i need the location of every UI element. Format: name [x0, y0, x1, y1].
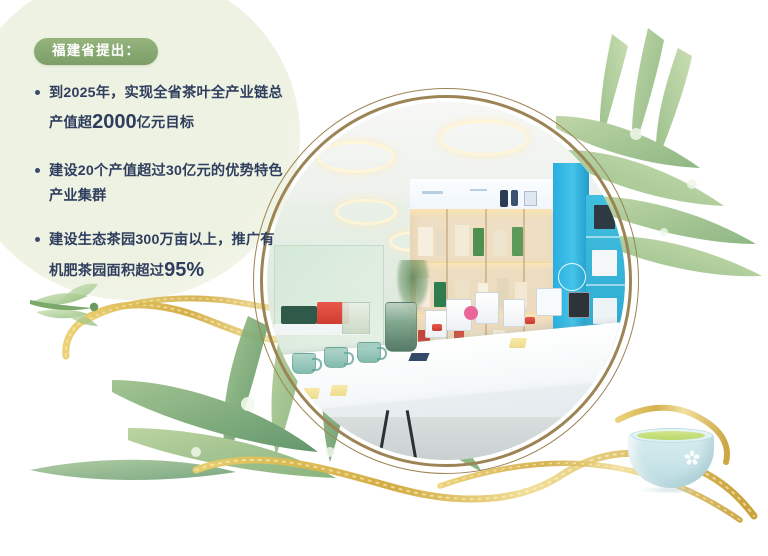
- product-box: [512, 227, 523, 256]
- poster-canvas: 福建省提出： 到2025年，实现全省茶叶全产业链总产值超2000亿元目标 建设2…: [0, 0, 768, 556]
- bullet-dot: [35, 168, 40, 173]
- plain-text: 建设20个产值超过30亿元的优势特色产业集群: [49, 163, 283, 203]
- tea-canister: [342, 302, 370, 334]
- tea-bowl: [628, 424, 714, 492]
- bullet-item-1: 到2025年，实现全省茶叶全产业链总产值超2000亿元目标: [34, 81, 284, 140]
- bullet-item-2: 建设20个产值超过30亿元的优势特色产业集群: [34, 159, 284, 208]
- plain-text: 亿元目标: [137, 115, 195, 131]
- product-box: [592, 250, 617, 276]
- dark-display-box: [281, 306, 317, 324]
- product-box: [455, 225, 469, 256]
- emphasis-number: 2000: [92, 111, 137, 133]
- tea-liquid: [637, 431, 705, 440]
- green-glass-mug: [324, 347, 348, 368]
- plain-text: 建设生态茶园300万亩以上，推广有机肥茶园面积超过: [49, 232, 275, 278]
- red-price-tag: [432, 324, 442, 331]
- bullet-item-3: 建设生态茶园300万亩以上，推广有机肥茶园面积超过95%: [34, 228, 284, 287]
- green-glass-mug: [357, 342, 381, 363]
- product-display: [475, 292, 499, 324]
- brand-logo-medallion: [558, 263, 586, 291]
- bullet-text: 建设20个产值超过30亿元的优势特色产业集群: [49, 163, 283, 203]
- product-box: [593, 298, 617, 324]
- product-box: [436, 230, 447, 256]
- tablet-stand: [536, 288, 562, 316]
- pink-circle-sign: [464, 306, 478, 320]
- badge-title: 福建省提出：: [34, 38, 158, 65]
- product-box: [434, 282, 446, 308]
- tablet-stand: [568, 292, 590, 318]
- emphasis-number: 95%: [164, 259, 204, 281]
- tea-shop-scene: [267, 102, 625, 460]
- yellow-card: [509, 338, 527, 348]
- yellow-card: [302, 388, 320, 399]
- circular-photo-frame: [253, 88, 639, 474]
- red-price-tag: [525, 317, 535, 324]
- bullet-list: 到2025年，实现全省茶叶全产业链总产值超2000亿元目标 建设20个产值超过3…: [34, 81, 284, 287]
- floor: [267, 417, 625, 460]
- pendant-light-2: [439, 120, 529, 156]
- circular-photo: [267, 102, 625, 460]
- product-box: [418, 227, 433, 256]
- bullet-text: 到2025年，实现全省茶叶全产业链总产值超2000亿元目标: [49, 85, 283, 131]
- bullet-dot: [35, 90, 40, 95]
- green-glass-mug: [292, 353, 316, 374]
- flower-icon: [684, 450, 700, 466]
- product-box: [494, 230, 506, 256]
- bullet-dot: [35, 237, 40, 242]
- yellow-card: [330, 385, 348, 396]
- pendant-light-3: [335, 199, 397, 225]
- text-panel: 福建省提出： 到2025年，实现全省茶叶全产业链总产值超2000亿元目标 建设2…: [34, 38, 284, 287]
- product-box: [594, 205, 615, 229]
- product-box: [473, 228, 484, 255]
- blue-card: [409, 353, 430, 361]
- product-display: [503, 299, 525, 327]
- bullet-text: 建设生态茶园300万亩以上，推广有机肥茶园面积超过95%: [49, 232, 275, 278]
- glass-tea-brewer: [385, 302, 417, 352]
